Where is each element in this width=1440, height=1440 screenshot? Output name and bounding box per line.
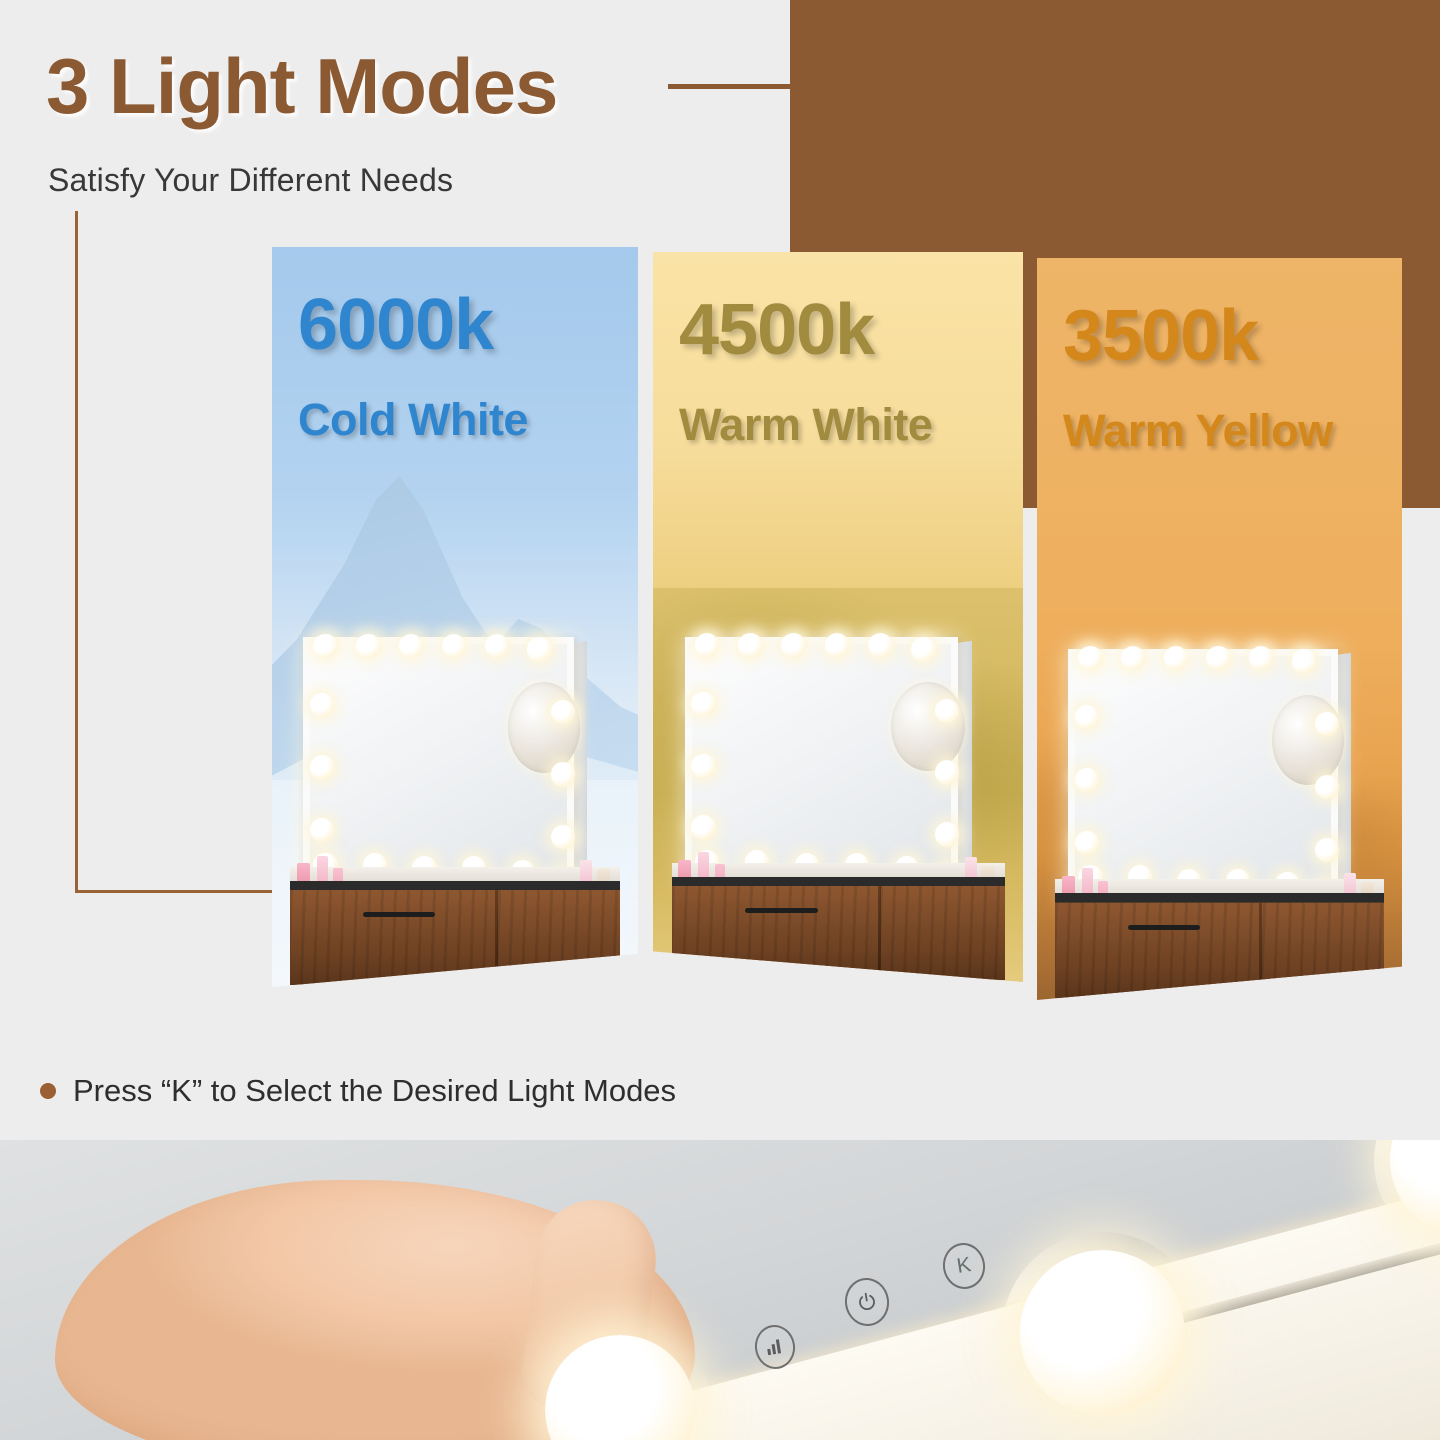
power-button[interactable] bbox=[842, 1275, 893, 1329]
drawer-seam bbox=[495, 890, 498, 985]
drawer-handle bbox=[745, 908, 818, 913]
corner-bracket-line bbox=[75, 211, 285, 893]
vanity-drawer-base bbox=[1055, 893, 1384, 998]
kelvin-value: 6000k bbox=[298, 289, 493, 361]
drawer-handle bbox=[1128, 925, 1200, 930]
brightness-bars-icon bbox=[765, 1338, 785, 1357]
wood-texture bbox=[1055, 903, 1384, 998]
kelvin-value: 4500k bbox=[679, 294, 874, 366]
power-icon bbox=[856, 1291, 879, 1314]
bullet-dot-icon bbox=[40, 1083, 56, 1099]
touch-control-photo: K bbox=[0, 1140, 1440, 1440]
mode-name: Warm White bbox=[679, 402, 932, 447]
magnifying-mirror bbox=[891, 682, 964, 771]
page-title: 3 Light Modes bbox=[46, 46, 557, 128]
instruction-row: Press “K” to Select the Desired Light Mo… bbox=[40, 1073, 676, 1109]
kelvin-value: 3500k bbox=[1063, 300, 1258, 372]
vanity-mirror bbox=[1055, 649, 1384, 998]
page-subtitle: Satisfy Your Different Needs bbox=[48, 162, 453, 199]
drawer-seam bbox=[1259, 903, 1262, 998]
drawer-handle bbox=[363, 912, 435, 917]
vanity-mirror bbox=[672, 637, 1005, 980]
mode-name: Cold White bbox=[298, 397, 528, 442]
magnifying-mirror bbox=[508, 682, 580, 772]
light-mode-panel-warm-yellow: 3500k Warm Yellow bbox=[1037, 258, 1402, 1000]
k-letter-icon: K bbox=[955, 1253, 973, 1279]
title-rule bbox=[668, 84, 794, 89]
light-mode-panel-cold-white: 6000k Cold White bbox=[272, 247, 638, 987]
magnifying-mirror bbox=[1272, 695, 1344, 786]
instruction-text: Press “K” to Select the Desired Light Mo… bbox=[73, 1073, 676, 1109]
drawer-seam bbox=[878, 886, 881, 980]
wood-texture bbox=[290, 890, 619, 985]
mode-name: Warm Yellow bbox=[1063, 408, 1333, 453]
vanity-drawer-base bbox=[290, 881, 619, 985]
wood-texture bbox=[672, 886, 1005, 980]
light-mode-panel-warm-white: 4500k Warm White bbox=[653, 252, 1023, 982]
vanity-mirror bbox=[290, 637, 619, 985]
kelvin-button[interactable]: K bbox=[940, 1240, 989, 1292]
vanity-drawer-base bbox=[672, 877, 1005, 980]
